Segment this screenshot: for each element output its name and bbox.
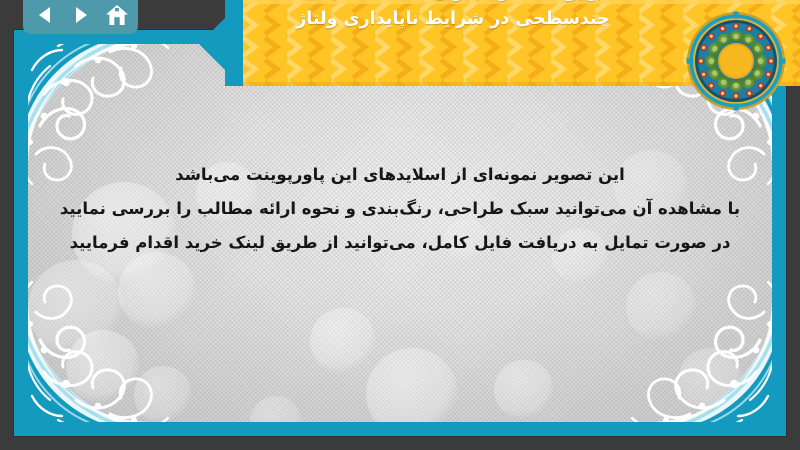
body-line: در صورت تمایل به دریافت فایل کامل، می‌تو… (54, 226, 746, 260)
body-line: این تصویر نمونه‌ای از اسلایدهای این پاور… (54, 158, 746, 192)
slide-body-text: این تصویر نمونه‌ای از اسلایدهای این پاور… (54, 158, 746, 260)
home-button[interactable] (104, 3, 130, 27)
triangle-left-icon (34, 4, 56, 26)
next-slide-button[interactable] (68, 3, 94, 27)
slide-navigation-bar (23, 0, 138, 34)
body-line: با مشاهده آن می‌توانید سبک طراحی، رنگ‌بن… (54, 192, 746, 226)
slide-title: کامل ارائه مدل کنترلی توان راکتیو برای ب… (218, 0, 688, 33)
previous-slide-button[interactable] (32, 3, 58, 27)
home-icon (105, 4, 129, 27)
presentation-viewer: این تصویر نمونه‌ای از اسلایدهای این پاور… (0, 0, 800, 450)
persian-medallion-ornament (685, 10, 787, 112)
triangle-right-icon (70, 4, 92, 26)
slide-canvas: این تصویر نمونه‌ای از اسلایدهای این پاور… (14, 30, 786, 436)
